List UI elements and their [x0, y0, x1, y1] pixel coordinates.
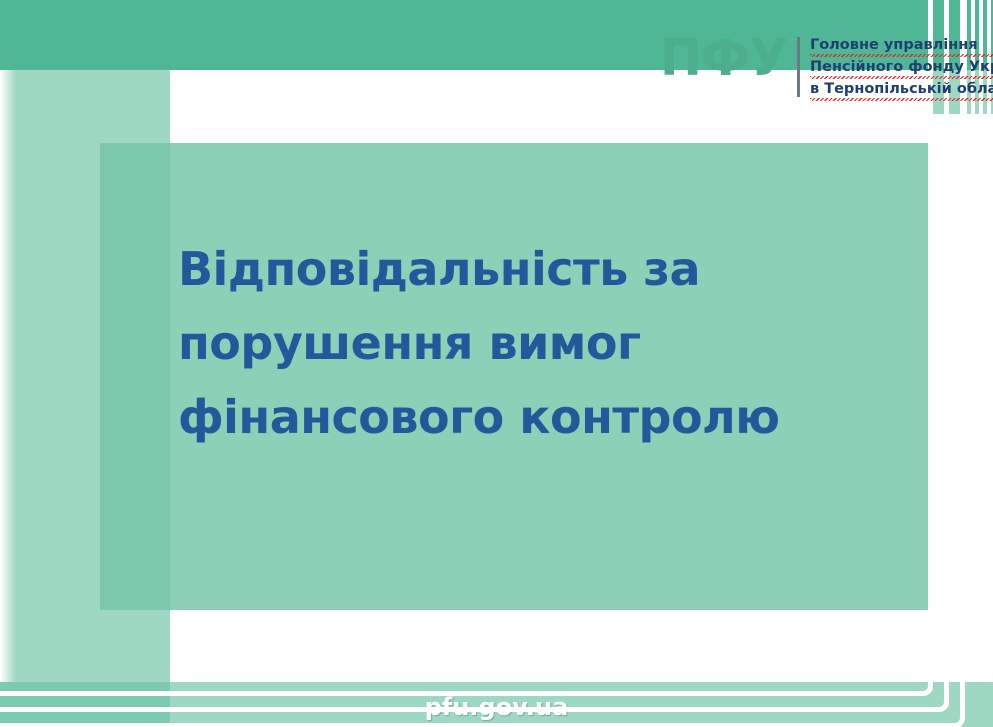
presentation-slide: ПФУ Головне управління Пенсійного фонду …	[0, 0, 993, 727]
right-green-column	[930, 70, 955, 682]
slide-title-line-3: фінансового контролю	[178, 380, 878, 454]
logo-divider	[797, 37, 800, 97]
footer-website: pfu.gov.ua	[0, 693, 993, 721]
organization-line-3: в Тернопільській області	[810, 79, 993, 101]
slide-title-line-2: порушення вимог	[178, 306, 878, 380]
organization-line-2: Пенсійного фонду України	[810, 57, 993, 79]
left-edge-fade	[0, 70, 16, 682]
organization-line-1: Головне управління	[810, 35, 993, 57]
slide-title: Відповідальність за порушення вимог фіна…	[178, 232, 878, 454]
organization-name: Головне управління Пенсійного фонду Укра…	[810, 33, 993, 101]
pfu-logo-icon: ПФУ	[660, 33, 797, 83]
slide-title-line-1: Відповідальність за	[178, 232, 878, 306]
brand-header: ПФУ Головне управління Пенсійного фонду …	[660, 33, 993, 101]
